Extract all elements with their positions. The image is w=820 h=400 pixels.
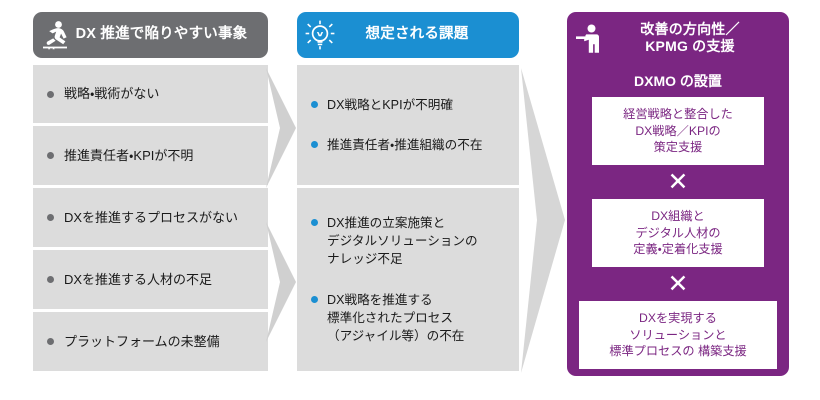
support-card-line: 標準プロセスの 構築支援 [609,344,746,358]
support-card-text-1: 経営戦略と整合した DX戦略／KPIの 策定支援 [623,106,733,156]
issue-box-4: DXを推進する人材の不足 [33,250,268,309]
issue-label-1: 戦略・戦術がない [64,85,159,103]
problem-item-3: DX推進の立案施策と デジタルソリューションの ナレッジ不足 [311,214,507,269]
support-card-line: 定義・定着化支援 [633,242,722,256]
chevron-issues-to-problems-top [266,68,298,188]
diagram-canvas: DX 推進で陥りやすい事象 戦略・戦術がない 推進責任者・KPIが不明 DXを推… [0,0,820,400]
problem-item-4: DX戦略を推進する 標準化されたプロセス （アジャイル等）の不在 [311,291,507,346]
problem-label-1: DX戦略とKPIが不明確 [327,96,453,114]
person-presenting-icon [573,21,607,55]
bullet-dot-icon [311,141,318,148]
support-column-title: 改善の方向性／ KPMG の支援 [607,21,781,54]
support-card-2: DX組織と デジタル人材の 定義・定着化支援 [592,199,764,267]
issue-label-2: 推進責任者・KPIが不明 [64,147,193,165]
bullet-dot-icon [47,338,54,345]
problems-column-header: 想定される課題 [297,12,519,58]
problem-label-3: DX推進の立案施策と デジタルソリューションの ナレッジ不足 [327,214,478,269]
support-card-line: ソリューションと [629,328,726,342]
support-card-line: デジタル人材の [635,226,720,240]
problem-label-4: DX戦略を推進する 標準化されたプロセス （アジャイル等）の不在 [327,291,464,346]
problems-group-1: DX戦略とKPIが不明確 推進責任者・推進組織の不在 [297,65,519,185]
support-card-line: 経営戦略と整合した [623,107,733,121]
support-card-text-2: DX組織と デジタル人材の 定義・定着化支援 [633,208,722,258]
bullet-dot-icon [47,152,54,159]
issue-box-5: プラットフォームの未整備 [33,312,268,371]
dxmo-section-label: DXMO の設置 [567,71,789,91]
issue-label-3: DXを推進するプロセスがない [64,209,238,227]
problem-line: ナレッジ不足 [327,252,403,266]
problem-label-2: 推進責任者・推進組織の不在 [327,136,482,154]
bullet-dot-icon [311,296,318,303]
support-column-header: 改善の方向性／ KPMG の支援 [567,12,789,64]
support-card-text-3: DXを実現する ソリューションと 標準プロセスの 構築支援 [609,310,746,360]
problem-item-1: DX戦略とKPIが不明確 [311,96,507,114]
slipping-person-icon [41,19,71,51]
support-title-line: 改善の方向性／ [640,21,739,37]
problem-line: デジタルソリューションの [327,234,478,248]
problem-line: （アジャイル等）の不在 [327,329,464,343]
problem-line: 推進責任者・推進組織の不在 [327,138,482,152]
bullet-dot-icon [311,101,318,108]
problem-line: 標準化されたプロセス [327,311,453,325]
support-card-line: DXを実現する [639,311,717,325]
chevron-issues-to-problems-bottom [266,222,298,342]
issue-label-5: プラットフォームの未整備 [64,333,220,351]
bullet-dot-icon [47,276,54,283]
issue-box-1: 戦略・戦術がない [33,65,268,123]
problems-column-title: 想定される課題 [335,26,509,43]
bullet-dot-icon [311,219,318,226]
support-title-line: KPMG の支援 [645,38,735,54]
lightbulb-idea-icon [305,20,335,50]
support-card-line: DX戦略／KPIの [635,124,720,138]
problem-line: DX戦略とKPIが不明確 [327,98,453,112]
issue-box-2: 推進責任者・KPIが不明 [33,126,268,185]
problem-line: DX推進の立案施策と [327,216,445,230]
bullet-dot-icon [47,91,54,98]
chevron-problems-to-support [521,68,567,373]
support-card-3: DXを実現する ソリューションと 標準プロセスの 構築支援 [579,301,777,369]
issues-column-title: DX 推進で陥りやすい事象 [71,26,258,43]
separator-x-2: ✕ [567,271,789,296]
issue-label-4: DXを推進する人材の不足 [64,271,212,289]
support-card-1: 経営戦略と整合した DX戦略／KPIの 策定支援 [592,97,764,165]
support-card-line: DX組織と [651,209,705,223]
problem-item-2: 推進責任者・推進組織の不在 [311,136,507,154]
issues-column-header: DX 推進で陥りやすい事象 [33,12,268,58]
problems-group-2: DX推進の立案施策と デジタルソリューションの ナレッジ不足 DX戦略を推進する… [297,188,519,371]
support-panel: DXMO の設置 経営戦略と整合した DX戦略／KPIの 策定支援 ✕ DX組織… [567,64,789,376]
problem-line: DX戦略を推進する [327,293,433,307]
bullet-dot-icon [47,214,54,221]
separator-x-1: ✕ [567,169,789,194]
support-card-line: 策定支援 [654,140,703,154]
issue-box-3: DXを推進するプロセスがない [33,188,268,247]
